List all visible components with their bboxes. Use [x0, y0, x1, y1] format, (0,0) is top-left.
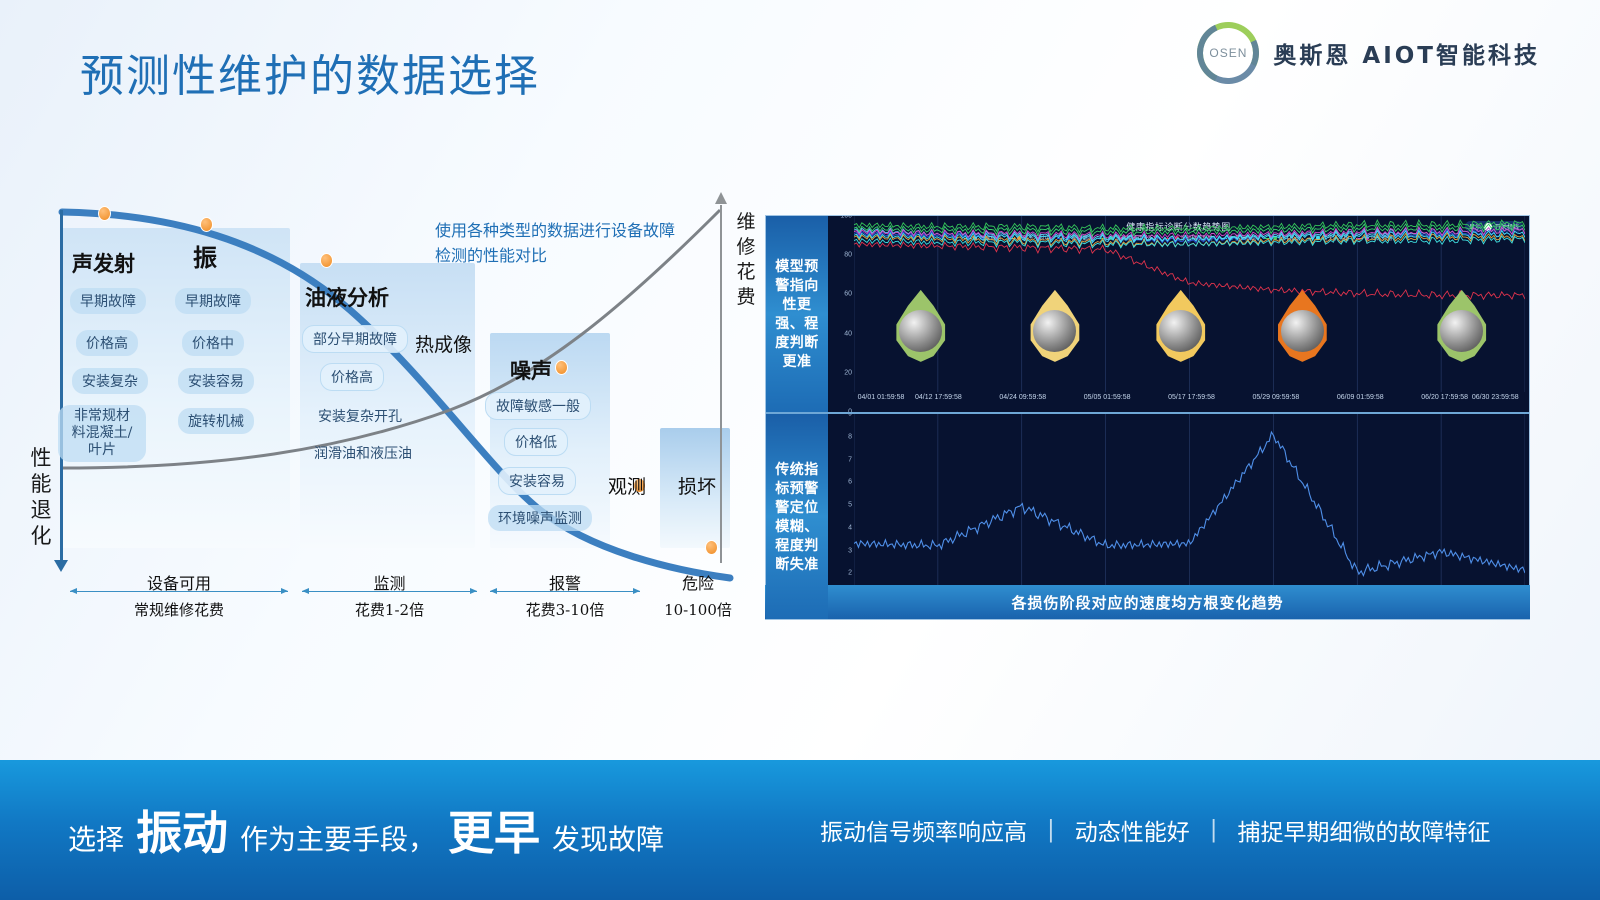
- axis-tick: 6: [848, 479, 852, 486]
- axis-tick: 06/20 17:59:58: [1421, 394, 1468, 401]
- y-axis-ticks: 020406080100: [828, 216, 854, 412]
- pill-acoustic-1: 价格高: [76, 330, 138, 356]
- axis-tick: 05/17 17:59:58: [1168, 394, 1215, 401]
- curve-point: [320, 253, 333, 268]
- pill-acoustic-2: 安装复杂: [72, 368, 148, 394]
- column-title-oil: 油液分析: [305, 282, 389, 312]
- footer-benefit-item: 捕捉早期细微的故障特征: [1238, 813, 1491, 847]
- pill-oil-1: 价格高: [320, 363, 384, 391]
- dashboard-caption: 各损伤阶段对应的速度均方根变化趋势: [765, 585, 1530, 619]
- y-axis-left-label: 性能退化: [28, 445, 54, 549]
- chart-image-marker[interactable]: [892, 290, 950, 362]
- segment-name: 设备可用: [70, 570, 288, 594]
- segment-alarm: 报警 花费3-10倍: [490, 570, 640, 620]
- curve-point: [705, 540, 718, 555]
- axis-tick: 04/01 01:59:58: [858, 394, 905, 401]
- axis-tick: 06/30 23:59:58: [1472, 394, 1519, 401]
- diagram-annotation: 使用各种类型的数据进行设备故障检测的性能对比: [435, 218, 690, 268]
- plot-area: [854, 414, 1525, 599]
- axis-tick: 05/05 01:59:58: [1084, 394, 1131, 401]
- health-score-chart: 健康指标诊断分数趋势图 电磁振动转子不对中部件磨擦滚动轴承润滑不良滚动轴承异常基…: [828, 216, 1529, 412]
- segment-cost: 花费1-2倍: [302, 599, 477, 620]
- axis-tick: 8: [848, 433, 852, 440]
- page-title: 预测性维护的数据选择: [80, 40, 540, 104]
- chart-image-marker[interactable]: [1026, 290, 1084, 362]
- pill-noise-1: 价格低: [504, 428, 568, 456]
- footer-benefits: 振动信号频率响应高|动态性能好|捕捉早期细微的故障特征: [820, 813, 1491, 847]
- segment-available: 设备可用 常规维修花费: [70, 570, 288, 620]
- footer-headline-part: 振动: [136, 797, 228, 863]
- footer-headline-part: 选择: [68, 818, 124, 858]
- segment-monitor: 监测 花费1-2倍: [302, 570, 477, 620]
- axis-tick: 5: [848, 502, 852, 509]
- axis-tick: 3: [848, 547, 852, 554]
- footer-banner: 选择振动作为主要手段，更早发现故障 振动信号频率响应高|动态性能好|捕捉早期细微…: [0, 760, 1600, 900]
- column-title-noise: 噪声: [510, 355, 552, 385]
- segment-name: 监测: [302, 570, 477, 594]
- axis-tick: 2: [848, 570, 852, 577]
- brand-logo: OSEN 奥斯恩 AIOT智能科技: [1197, 22, 1540, 84]
- pill-oil-2: 安装复杂开孔: [308, 403, 412, 429]
- axis-tick: 7: [848, 456, 852, 463]
- pill-vibration-2: 安装容易: [178, 368, 254, 394]
- pill-oil-0: 部分早期故障: [302, 325, 408, 353]
- column-title-acoustic: 声发射: [72, 248, 135, 278]
- logo-mark-text: OSEN: [1197, 22, 1259, 84]
- axis-tick: 04/24 09:59:58: [999, 394, 1046, 401]
- pill-vibration-1: 价格中: [182, 330, 244, 356]
- footer-divider: |: [1047, 817, 1055, 843]
- chart-image-marker[interactable]: [1273, 290, 1331, 362]
- footer-headline-part: 更早: [448, 797, 540, 863]
- osen-ring-icon: OSEN: [1197, 22, 1259, 84]
- axis-tick: 4: [848, 524, 852, 531]
- axis-tick: 20: [844, 369, 852, 376]
- pill-vibration-0: 早期故障: [175, 288, 251, 314]
- component-photo: [1033, 310, 1076, 352]
- y-axis-left-arrow: [54, 560, 68, 572]
- footer-benefit-item: 振动信号频率响应高: [820, 813, 1027, 847]
- curve-point: [200, 217, 213, 232]
- component-photo: [1440, 310, 1483, 352]
- segment-name: 危险: [648, 570, 748, 594]
- footer-divider: |: [1210, 817, 1218, 843]
- segment-cost: 常规维修花费: [70, 599, 288, 620]
- curve-point: [98, 206, 111, 221]
- axis-tick: 9: [848, 414, 852, 418]
- panel-traditional-label: 传统指标预警警定位模糊、程度判断失准: [766, 414, 828, 619]
- pill-acoustic-0: 早期故障: [70, 288, 146, 314]
- segment-name: 报警: [490, 570, 640, 594]
- y-axis-left-line: [60, 210, 63, 565]
- label-observe: 观测: [608, 472, 646, 499]
- footer-headline-part: 发现故障: [552, 818, 664, 858]
- dashboard-panel-model: 模型预警指向性更强、程度判断更准 健康指标诊断分数趋势图 电磁振动转子不对中部件…: [766, 216, 1529, 414]
- pill-oil-3: 润滑油和液压油: [304, 440, 422, 466]
- label-damage: 损坏: [678, 472, 716, 499]
- y-axis-right-arrow: [715, 192, 727, 204]
- segment-cost: 花费3-10倍: [490, 599, 640, 620]
- chart-image-marker[interactable]: [1433, 290, 1491, 362]
- axis-tick: 40: [844, 330, 852, 337]
- pill-noise-0: 故障敏感一般: [485, 392, 591, 420]
- dashboard-screenshot: 模型预警指向性更强、程度判断更准 健康指标诊断分数趋势图 电磁振动转子不对中部件…: [765, 215, 1530, 620]
- brand-name: 奥斯恩 AIOT智能科技: [1273, 36, 1540, 70]
- pf-curve-diagram: 性能退化 维修花费 使用各种类型的数据进行设备故障检测的性能对比 声发射 早期故…: [20, 200, 780, 620]
- label-thermal-imaging: 热成像: [415, 330, 472, 357]
- y-axis-right-label: 维修花费: [734, 210, 758, 310]
- chart-image-marker[interactable]: [1152, 290, 1210, 362]
- axis-tick: 06/09 01:59:58: [1337, 394, 1384, 401]
- pill-noise-3: 环境噪声监测: [488, 505, 592, 531]
- x-axis-ticks: 04/01 01:59:5804/12 17:59:5804/24 09:59:…: [854, 394, 1529, 410]
- y-axis-right-line: [720, 205, 722, 563]
- segment-danger: 危险 10-100倍: [648, 570, 748, 620]
- pill-vibration-3: 旋转机械: [178, 408, 254, 434]
- component-photo: [1159, 310, 1202, 352]
- pill-acoustic-3: 非常规材料混凝土/叶片: [58, 405, 146, 462]
- footer-benefit-item: 动态性能好: [1075, 813, 1190, 847]
- footer-headline-part: 作为主要手段，: [240, 818, 436, 858]
- curve-point: [555, 360, 568, 375]
- axis-tick: 80: [844, 252, 852, 259]
- axis-tick: 05/29 09:59:58: [1253, 394, 1300, 401]
- pill-noise-2: 安装容易: [498, 467, 576, 495]
- segment-cost: 10-100倍: [648, 599, 748, 620]
- component-photo: [1281, 310, 1324, 352]
- component-photo: [899, 310, 942, 352]
- panel-model-label: 模型预警指向性更强、程度判断更准: [766, 216, 828, 412]
- footer-headline: 选择振动作为主要手段，更早发现故障: [68, 797, 664, 863]
- chart-svg: [854, 414, 1525, 599]
- axis-tick: 60: [844, 291, 852, 298]
- plot-area: [854, 216, 1525, 392]
- axis-tick: 04/12 17:59:58: [915, 394, 962, 401]
- column-title-vibration: 振: [193, 238, 217, 273]
- axis-tick: 100: [840, 216, 852, 220]
